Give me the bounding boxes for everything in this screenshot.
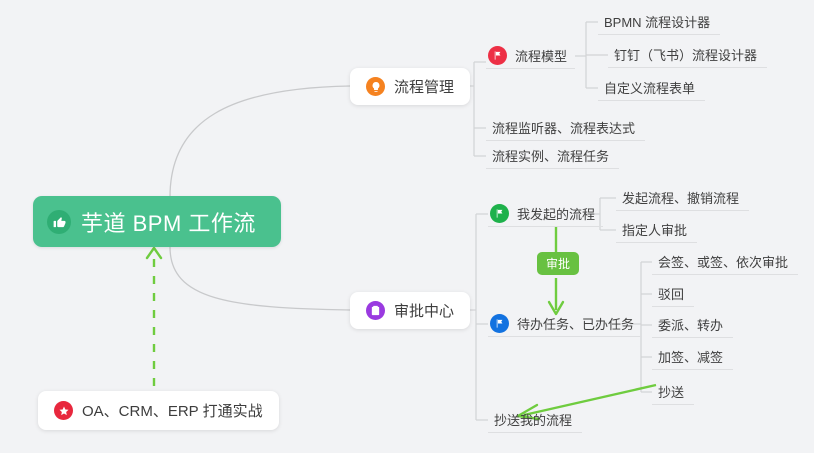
leaf-node-listener-expression[interactable]: 流程监听器、流程表达式 <box>486 115 645 141</box>
leaf-node-cc[interactable]: 抄送 <box>652 379 694 405</box>
sub-node-label: 待办任务、已办任务 <box>517 314 634 333</box>
root-label: 芋道 BPM 工作流 <box>81 206 256 238</box>
leaf-node-add-remove-sign[interactable]: 加签、减签 <box>652 344 733 370</box>
sub-node-my-started-processes[interactable]: 我发起的流程 <box>488 201 603 227</box>
callout-label: OA、CRM、ERP 打通实战 <box>82 400 263 421</box>
leaf-node-countersign-approval[interactable]: 会签、或签、依次审批 <box>652 249 798 275</box>
branch-label: 流程管理 <box>394 76 454 97</box>
callout-arrow <box>147 248 161 386</box>
flag-blue-icon <box>490 314 509 333</box>
clipboard-icon <box>366 301 385 320</box>
branch-label: 审批中心 <box>394 300 454 321</box>
flow-tag-approval[interactable]: 审批 <box>537 252 579 275</box>
flag-green-icon <box>490 204 509 223</box>
leaf-node-bpmn-designer[interactable]: BPMN 流程设计器 <box>598 9 720 35</box>
thumbs-up-icon <box>47 210 71 234</box>
flag-red-icon <box>488 46 507 65</box>
leaf-node-dingtalk-feishu-designer[interactable]: 钉钉（飞书）流程设计器 <box>608 42 767 68</box>
leaf-node-start-cancel-process[interactable]: 发起流程、撤销流程 <box>616 185 749 211</box>
root-node[interactable]: 芋道 BPM 工作流 <box>33 196 281 247</box>
leaf-node-reject[interactable]: 驳回 <box>652 281 694 307</box>
sub-node-label: 流程模型 <box>515 46 567 65</box>
leaf-node-instance-task[interactable]: 流程实例、流程任务 <box>486 143 619 169</box>
branch-node-process-management[interactable]: 流程管理 <box>350 68 470 105</box>
branch-node-approval-center[interactable]: 审批中心 <box>350 292 470 329</box>
mindmap-canvas: 芋道 BPM 工作流 流程管理 流程模型 BPMN 流程设计器 钉钉（飞书）流程… <box>0 0 814 453</box>
callout-node-integration[interactable]: OA、CRM、ERP 打通实战 <box>38 391 279 430</box>
lightbulb-icon <box>366 77 385 96</box>
star-icon <box>54 401 73 420</box>
leaf-node-custom-form[interactable]: 自定义流程表单 <box>598 75 705 101</box>
leaf-node-delegate-transfer[interactable]: 委派、转办 <box>652 312 733 338</box>
sub-node-label: 我发起的流程 <box>517 204 595 223</box>
leaf-node-cc-to-me[interactable]: 抄送我的流程 <box>488 407 582 433</box>
sub-node-todo-done-tasks[interactable]: 待办任务、已办任务 <box>488 311 642 337</box>
leaf-node-assignee-approval[interactable]: 指定人审批 <box>616 217 697 243</box>
sub-node-process-model[interactable]: 流程模型 <box>486 43 575 69</box>
